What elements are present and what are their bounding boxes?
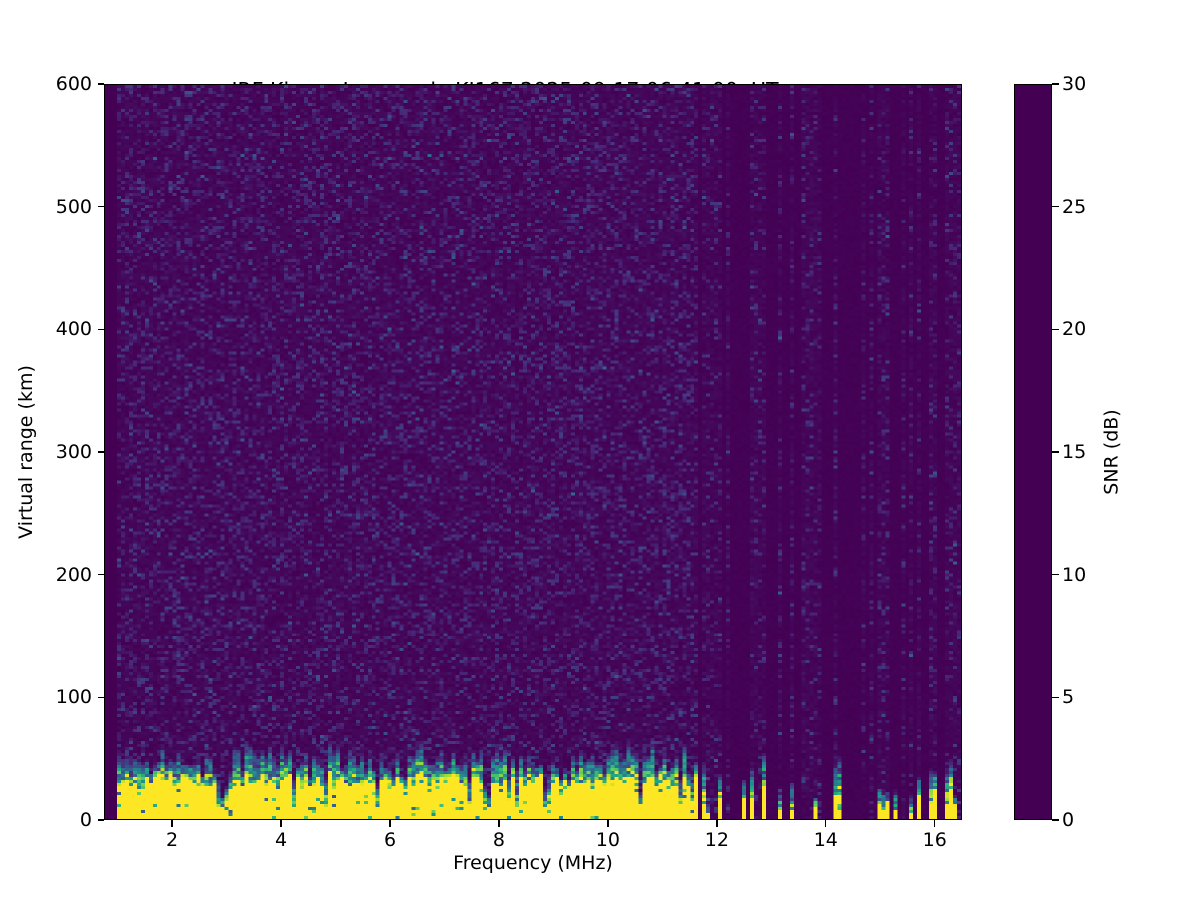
colorbar-gradient (1015, 85, 1051, 819)
y-tick-mark (98, 574, 105, 575)
colorbar-tick-label: 5 (1062, 686, 1074, 708)
colorbar-tick-label: 20 (1062, 318, 1086, 340)
ionogram-plot-area[interactable] (104, 84, 962, 820)
x-tick-mark (716, 820, 717, 827)
y-tick-mark (98, 83, 105, 84)
y-axis-title: Virtual range (km) (12, 84, 40, 820)
y-tick-mark (98, 451, 105, 452)
x-tick-mark (389, 820, 390, 827)
y-tick-label: 500 (56, 196, 92, 218)
colorbar-tick-mark (1052, 206, 1059, 207)
x-tick-label: 10 (596, 829, 620, 851)
y-tick-label: 600 (56, 73, 92, 95)
x-tick-mark (171, 820, 172, 827)
ionogram-figure: IRF Kiruna Ionosonde KI167 2025-09-17 06… (0, 0, 1200, 900)
colorbar-tick-mark (1052, 697, 1059, 698)
colorbar-tick-mark (1052, 329, 1059, 330)
x-tick-mark (280, 820, 281, 827)
y-tick-mark (98, 697, 105, 698)
ionogram-canvas (105, 85, 961, 819)
y-tick-label: 300 (56, 441, 92, 463)
colorbar-tick-label: 25 (1062, 196, 1086, 218)
x-tick-label: 14 (814, 829, 838, 851)
colorbar-tick-label: 10 (1062, 564, 1086, 586)
colorbar-tick-label: 15 (1062, 441, 1086, 463)
ionogram-heatmap (105, 85, 961, 819)
x-tick-mark (825, 820, 826, 827)
y-tick-label: 100 (56, 686, 92, 708)
x-tick-mark (498, 820, 499, 827)
colorbar-tick-mark (1052, 574, 1059, 575)
y-tick-label: 400 (56, 318, 92, 340)
x-tick-label: 16 (923, 829, 947, 851)
x-tick-mark (934, 820, 935, 827)
colorbar-tick-label: 0 (1062, 809, 1074, 831)
y-tick-label: 0 (80, 809, 92, 831)
x-tick-label: 4 (275, 829, 287, 851)
x-tick-mark (607, 820, 608, 827)
x-tick-label: 12 (705, 829, 729, 851)
x-axis-ticks: 246810121416 (104, 820, 962, 828)
x-tick-label: 8 (493, 829, 505, 851)
colorbar[interactable] (1014, 84, 1052, 820)
colorbar-tick-label: 30 (1062, 73, 1086, 95)
x-axis-title: Frequency (MHz) (104, 852, 962, 874)
colorbar-title: SNR (dB) (1098, 84, 1126, 820)
y-tick-mark (98, 329, 105, 330)
y-axis-title-text: Virtual range (km) (15, 365, 37, 539)
y-tick-label: 200 (56, 564, 92, 586)
colorbar-tick-mark (1052, 819, 1059, 820)
colorbar-tick-mark (1052, 83, 1059, 84)
colorbar-tick-mark (1052, 451, 1059, 452)
x-tick-label: 2 (166, 829, 178, 851)
y-tick-mark (98, 206, 105, 207)
colorbar-title-text: SNR (dB) (1101, 409, 1123, 494)
x-tick-label: 6 (384, 829, 396, 851)
